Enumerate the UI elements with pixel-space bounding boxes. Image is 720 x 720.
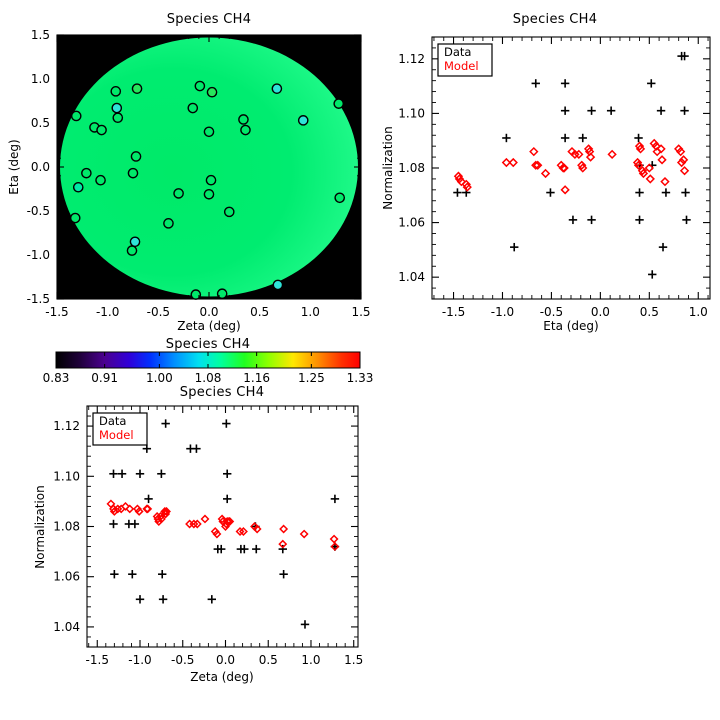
fov-point-marker — [204, 190, 213, 199]
fov-point-marker — [195, 81, 204, 90]
x-tick-label: 0.5 — [640, 305, 659, 319]
x-tick-label: 0.0 — [591, 305, 610, 319]
legend-data-label: Data — [99, 414, 126, 428]
x-tick-labels: -1.5-1.0-0.50.00.51.01.5 — [45, 305, 370, 319]
y-tick-label: 1.5 — [31, 28, 50, 42]
model-diamond-marker — [280, 526, 287, 533]
fov-point-marker — [239, 115, 248, 124]
fov-image-panel: Species CH4 -1.5-1.0-0.50.00.51.01.5 -1.… — [0, 0, 380, 340]
model-diamond-marker — [331, 536, 338, 543]
y-tick-label: 1.10 — [53, 469, 80, 483]
y-tick-labels: 1.041.061.081.101.12 — [53, 419, 80, 634]
x-tick-label: -0.5 — [171, 653, 194, 667]
x-axis-label: Eta (deg) — [543, 319, 598, 333]
model-diamond-marker — [542, 170, 549, 177]
x-tick-label: 1.5 — [344, 653, 363, 667]
model-diamond-marker — [681, 167, 688, 174]
data-series-markers — [453, 52, 690, 279]
x-tick-label: 1.5 — [351, 305, 370, 319]
x-tick-label: 0.5 — [250, 305, 269, 319]
fov-point-marker — [272, 84, 281, 93]
y-tick-label: 1.06 — [398, 216, 425, 230]
fov-point-marker — [164, 219, 173, 228]
fov-point-marker — [111, 87, 120, 96]
y-tick-labels: -1.5-1.0-0.50.00.51.01.5 — [27, 28, 50, 306]
zeta-scatter-svg: Species CH4 -1.5-1.0-0.50.00.51.01.5 1.0… — [0, 382, 400, 720]
x-tick-labels: -1.5-1.0-0.50.00.51.0 — [442, 305, 708, 319]
y-tick-label: 0.0 — [31, 160, 50, 174]
x-tick-label: -1.0 — [491, 305, 514, 319]
fov-point-marker — [128, 169, 137, 178]
y-tick-labels: 1.041.061.081.101.12 — [398, 52, 425, 284]
fov-point-marker — [127, 246, 136, 255]
x-tick-label: -1.5 — [86, 653, 109, 667]
x-tick-label: -1.0 — [96, 305, 119, 319]
y-tick-label: 1.08 — [398, 161, 425, 175]
fov-point-marker — [225, 207, 234, 216]
y-axis-label: Normalization — [33, 485, 47, 568]
zeta-scatter-panel: Species CH4 -1.5-1.0-0.50.00.51.01.5 1.0… — [0, 382, 400, 720]
x-axis-label: Zeta (deg) — [190, 670, 253, 684]
fov-point-marker — [113, 113, 122, 122]
panel-title: Species CH4 — [513, 12, 598, 27]
x-tick-label: -1.0 — [128, 653, 151, 667]
model-diamond-marker — [530, 148, 537, 155]
panel-title: Species CH4 — [167, 12, 252, 27]
model-diamond-marker — [647, 175, 654, 182]
fov-point-marker — [204, 127, 213, 136]
fov-disk — [60, 38, 358, 297]
colorbar-svg: Species CH4 0.830.911.001.081.161.251.33 — [0, 330, 380, 390]
model-series-markers — [455, 140, 688, 194]
fov-point-marker — [82, 169, 91, 178]
panel-title: Species CH4 — [180, 385, 265, 400]
model-diamond-marker — [202, 516, 209, 523]
fov-point-marker — [96, 176, 105, 185]
y-tick-label: -1.5 — [27, 292, 50, 306]
x-tick-label: 0.5 — [259, 653, 278, 667]
fov-point-marker — [112, 103, 121, 112]
y-tick-label: 0.5 — [31, 116, 50, 130]
model-diamond-marker — [609, 151, 616, 158]
fov-point-marker — [97, 125, 106, 134]
colorbar-title: Species CH4 — [166, 337, 251, 352]
y-tick-label: -0.5 — [27, 204, 50, 218]
legend-model-label: Model — [444, 59, 479, 73]
fov-point-marker — [131, 152, 140, 161]
model-diamond-marker — [279, 541, 286, 548]
legend-data-label: Data — [444, 45, 471, 59]
model-diamond-marker — [562, 186, 569, 193]
fov-point-marker — [273, 280, 282, 289]
fov-point-marker — [206, 176, 215, 185]
x-tick-label: -1.5 — [442, 305, 465, 319]
eta-scatter-panel: Species CH4 -1.5-1.0-0.50.00.51.0 1.041.… — [380, 0, 720, 340]
y-axis-label: Normalization — [381, 126, 395, 209]
x-tick-label: 0.0 — [199, 305, 218, 319]
fov-point-marker — [174, 189, 183, 198]
fov-point-marker — [74, 183, 83, 192]
y-axis-label: Eta (deg) — [7, 139, 21, 194]
y-tick-label: 1.04 — [53, 620, 80, 634]
y-tick-label: 1.12 — [53, 419, 80, 433]
y-tick-label: 1.12 — [398, 52, 425, 66]
fov-point-marker — [207, 88, 216, 97]
x-tick-label: -1.5 — [45, 305, 68, 319]
colorbar-panel: Species CH4 0.830.911.001.081.161.251.33 — [0, 330, 380, 390]
y-tick-label: 1.06 — [53, 570, 80, 584]
fov-point-marker — [241, 125, 250, 134]
legend-model-label: Model — [99, 428, 134, 442]
eta-scatter-svg: Species CH4 -1.5-1.0-0.50.00.51.0 1.041.… — [380, 0, 720, 340]
fov-point-marker — [130, 237, 139, 246]
fov-point-marker — [132, 84, 141, 93]
x-tick-labels: -1.5-1.0-0.50.00.51.01.5 — [86, 653, 364, 667]
x-tick-label: -0.5 — [540, 305, 563, 319]
y-tick-label: -1.0 — [27, 248, 50, 262]
model-diamond-marker — [301, 531, 308, 538]
y-tick-label: 1.08 — [53, 520, 80, 534]
fov-point-marker — [188, 103, 197, 112]
fov-point-marker — [335, 193, 344, 202]
fov-point-marker — [71, 213, 80, 222]
y-tick-label: 1.04 — [398, 270, 425, 284]
x-tick-label: 1.0 — [301, 653, 320, 667]
x-tick-label: 0.0 — [216, 653, 235, 667]
x-tick-label: 1.0 — [689, 305, 708, 319]
model-diamond-marker — [658, 156, 665, 163]
y-tick-label: 1.0 — [31, 72, 50, 86]
legend: Data Model — [438, 44, 492, 76]
y-tick-label: 1.10 — [398, 106, 425, 120]
model-series-markers — [108, 501, 339, 550]
fov-point-marker — [72, 111, 81, 120]
fov-point-marker — [299, 116, 308, 125]
fov-image-svg: Species CH4 -1.5-1.0-0.50.00.51.01.5 -1.… — [0, 0, 380, 340]
x-tick-label: 1.0 — [301, 305, 320, 319]
model-diamond-marker — [661, 178, 668, 185]
x-tick-label: -0.5 — [147, 305, 170, 319]
model-diamond-marker — [126, 506, 133, 513]
legend: Data Model — [93, 413, 147, 445]
fov-point-marker — [334, 99, 343, 108]
